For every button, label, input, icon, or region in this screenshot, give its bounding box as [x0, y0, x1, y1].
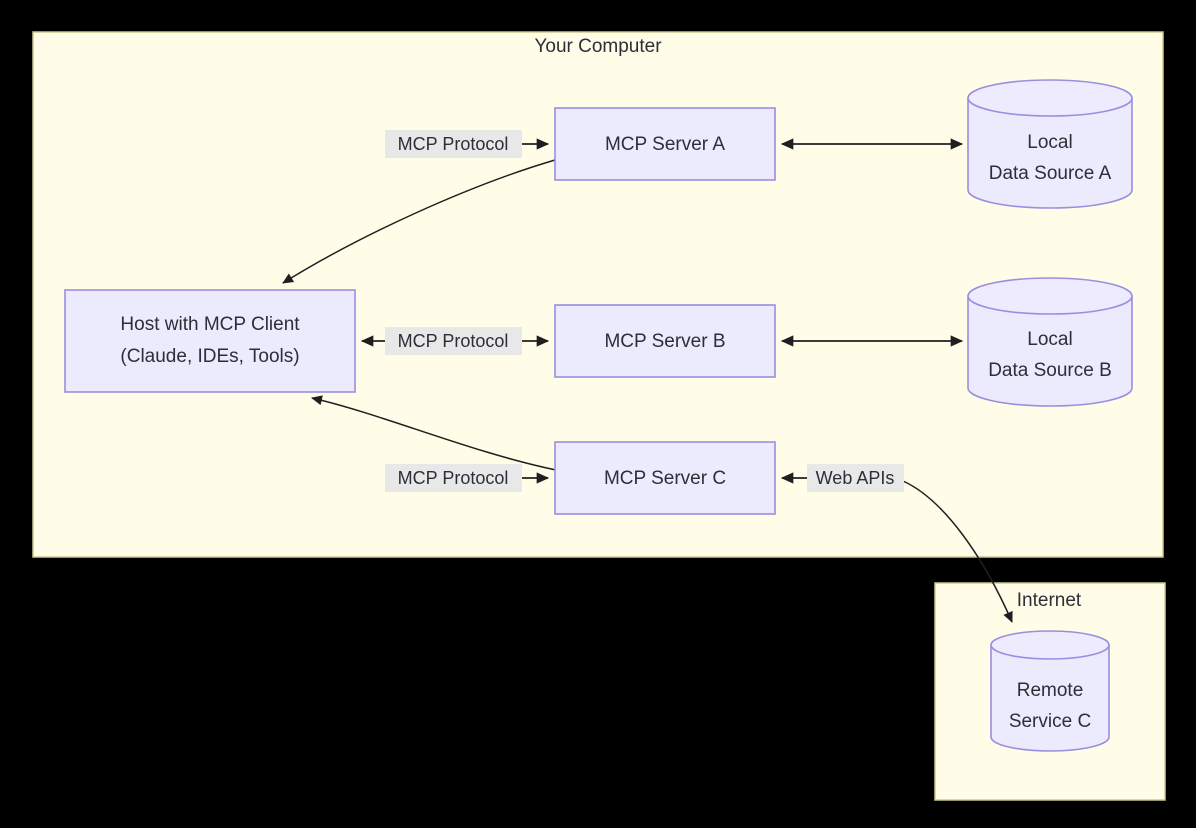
node-source-a[interactable]: Local Data Source A	[968, 80, 1132, 208]
node-remote-c-label-line2: Service C	[1009, 711, 1091, 732]
edge-label-host-server-c: MCP Protocol	[385, 464, 522, 492]
node-host-box[interactable]	[65, 290, 355, 392]
node-host-label-line1: Host with MCP Client	[120, 314, 300, 335]
internet-title: Internet	[1017, 590, 1082, 611]
node-server-a[interactable]: MCP Server A	[555, 108, 775, 180]
node-remote-c[interactable]: Remote Service C	[991, 631, 1109, 751]
node-remote-c-label-line1: Remote	[1017, 680, 1084, 701]
node-source-a-label-line1: Local	[1027, 132, 1072, 153]
edge-label-host-server-b: MCP Protocol	[385, 327, 522, 355]
node-host[interactable]: Host with MCP Client (Claude, IDEs, Tool…	[65, 290, 355, 392]
your-computer-title: Your Computer	[534, 36, 662, 57]
node-source-b-label-line1: Local	[1027, 329, 1072, 350]
node-source-a-top	[968, 80, 1132, 116]
node-source-b-label-line2: Data Source B	[988, 360, 1112, 381]
node-server-a-label: MCP Server A	[605, 134, 725, 155]
node-server-c-label: MCP Server C	[604, 468, 726, 489]
edge-label-host-server-c-text: MCP Protocol	[398, 468, 509, 488]
node-remote-c-top	[991, 631, 1109, 659]
node-host-label-line2: (Claude, IDEs, Tools)	[120, 346, 299, 367]
edge-label-web-apis-text: Web APIs	[816, 468, 895, 488]
node-server-b-label: MCP Server B	[604, 331, 725, 352]
edge-label-web-apis: Web APIs	[807, 464, 904, 492]
node-source-b[interactable]: Local Data Source B	[968, 278, 1132, 406]
node-server-c[interactable]: MCP Server C	[555, 442, 775, 514]
edge-label-host-server-a-text: MCP Protocol	[398, 134, 509, 154]
diagram-canvas: Your Computer Internet Host with MCP Cli…	[0, 0, 1196, 828]
node-server-b[interactable]: MCP Server B	[555, 305, 775, 377]
edge-label-host-server-a: MCP Protocol	[385, 130, 522, 158]
edge-label-host-server-b-text: MCP Protocol	[398, 331, 509, 351]
node-source-b-top	[968, 278, 1132, 314]
node-source-a-label-line2: Data Source A	[989, 163, 1112, 184]
mcp-architecture-diagram: Your Computer Internet Host with MCP Cli…	[0, 0, 1196, 828]
